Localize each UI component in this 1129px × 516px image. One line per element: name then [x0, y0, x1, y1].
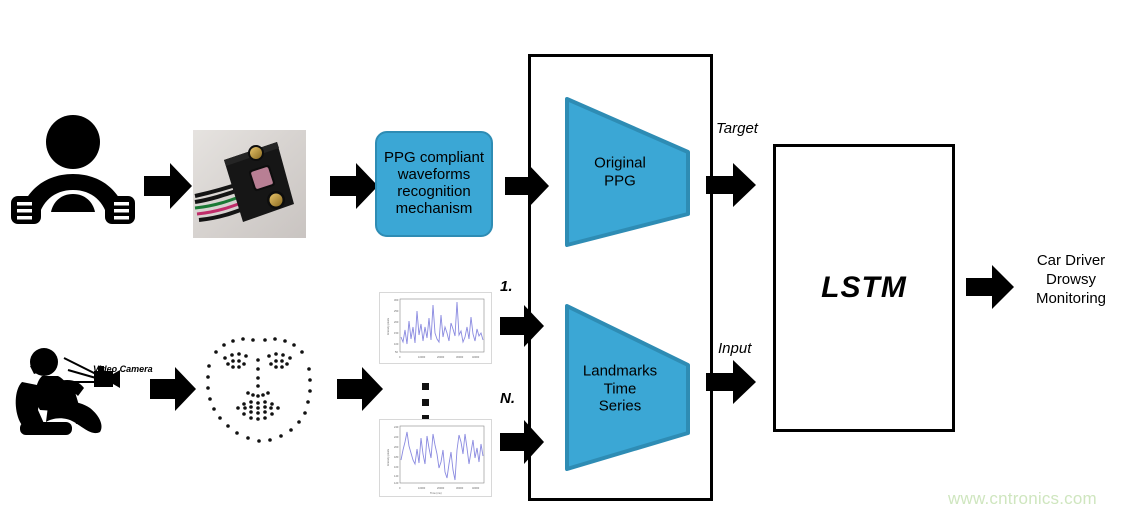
ppg-box-line-2: waveforms: [384, 167, 484, 184]
input-edge-label: Input: [718, 340, 751, 357]
svg-text:240: 240: [394, 425, 399, 429]
svg-text:10000: 10000: [418, 486, 426, 490]
driver-at-steering-wheel-icon: [8, 112, 138, 230]
series-ellipsis: [422, 383, 429, 422]
svg-text:200: 200: [394, 445, 399, 449]
ppg-sensor-photo: [193, 130, 306, 238]
svg-text:140: 140: [394, 474, 399, 478]
ppg-recognition-box[interactable]: PPG compliant waveforms recognition mech…: [375, 131, 493, 237]
svg-text:300: 300: [394, 298, 399, 302]
arrow-series-1-to-container: [500, 305, 544, 347]
arrow-lstm-to-output: [966, 265, 1014, 309]
ppg-box-line-4: mechanism: [384, 201, 484, 218]
svg-text:Intensity pixels: Intensity pixels: [386, 448, 390, 466]
original-ppg-trapezoid[interactable]: Original PPG: [564, 96, 692, 248]
facial-landmarks-scatter: [203, 330, 333, 450]
svg-text:Time (ms): Time (ms): [430, 491, 442, 495]
arrow-driver-to-sensor: [144, 163, 192, 209]
svg-text:20000: 20000: [437, 355, 445, 359]
video-camera-label: Video Camera: [93, 364, 153, 374]
arrow-sensor-to-ppg-box: [330, 163, 378, 209]
svg-text:30000: 30000: [456, 355, 464, 359]
output-line-3: Monitoring: [1016, 290, 1126, 309]
ppg-box-line-1: PPG compliant: [384, 150, 484, 167]
svg-text:30000: 30000: [456, 486, 464, 490]
svg-text:Intensity pixels: Intensity pixels: [386, 317, 390, 335]
output-line-2: Drowsy: [1016, 271, 1126, 290]
arrow-landmarks-to-timeseries: [337, 367, 383, 411]
landmark-time-series-plot-n[interactable]: 240220 200180 160140 120 010000 20000300…: [379, 419, 492, 497]
arrow-target-to-lstm: [706, 163, 756, 207]
svg-text:150: 150: [394, 331, 399, 335]
arrow-series-n-to-container: [500, 420, 544, 464]
svg-text:20000: 20000: [437, 486, 445, 490]
svg-text:100: 100: [394, 342, 399, 346]
svg-text:220: 220: [394, 435, 399, 439]
svg-text:160: 160: [394, 465, 399, 469]
svg-text:200: 200: [394, 320, 399, 324]
svg-text:180: 180: [394, 455, 399, 459]
svg-text:120: 120: [394, 481, 399, 485]
series-index-first: 1.: [500, 278, 513, 295]
svg-text:10000: 10000: [418, 355, 426, 359]
lstm-label: LSTM: [821, 271, 907, 305]
series-index-last: N.: [500, 390, 515, 407]
driver-in-seat-with-camera-icon: [12, 338, 172, 440]
arrow-camera-to-landmarks: [150, 367, 196, 411]
ellipsis-dot-1: [422, 383, 429, 390]
ellipsis-dot-2: [422, 399, 429, 406]
svg-text:40000: 40000: [472, 486, 480, 490]
landmark-time-series-plot-1[interactable]: 300250 200150 10050 010000 2000030000 40…: [379, 292, 492, 364]
watermark: www.cntronics.com: [948, 489, 1097, 509]
ppg-box-line-3: recognition: [384, 184, 484, 201]
output-line-1: Car Driver: [1016, 252, 1126, 271]
landmarks-time-series-trapezoid[interactable]: Landmarks Time Series: [564, 303, 692, 475]
lstm-model-box[interactable]: LSTM: [773, 144, 955, 432]
svg-text:250: 250: [394, 309, 399, 313]
target-edge-label: Target: [716, 120, 758, 137]
output-label: Car Driver Drowsy Monitoring: [1016, 252, 1126, 308]
svg-text:40000: 40000: [472, 355, 480, 359]
arrow-input-to-lstm: [706, 360, 756, 404]
ppg-recognition-box-label: PPG compliant waveforms recognition mech…: [384, 150, 484, 217]
